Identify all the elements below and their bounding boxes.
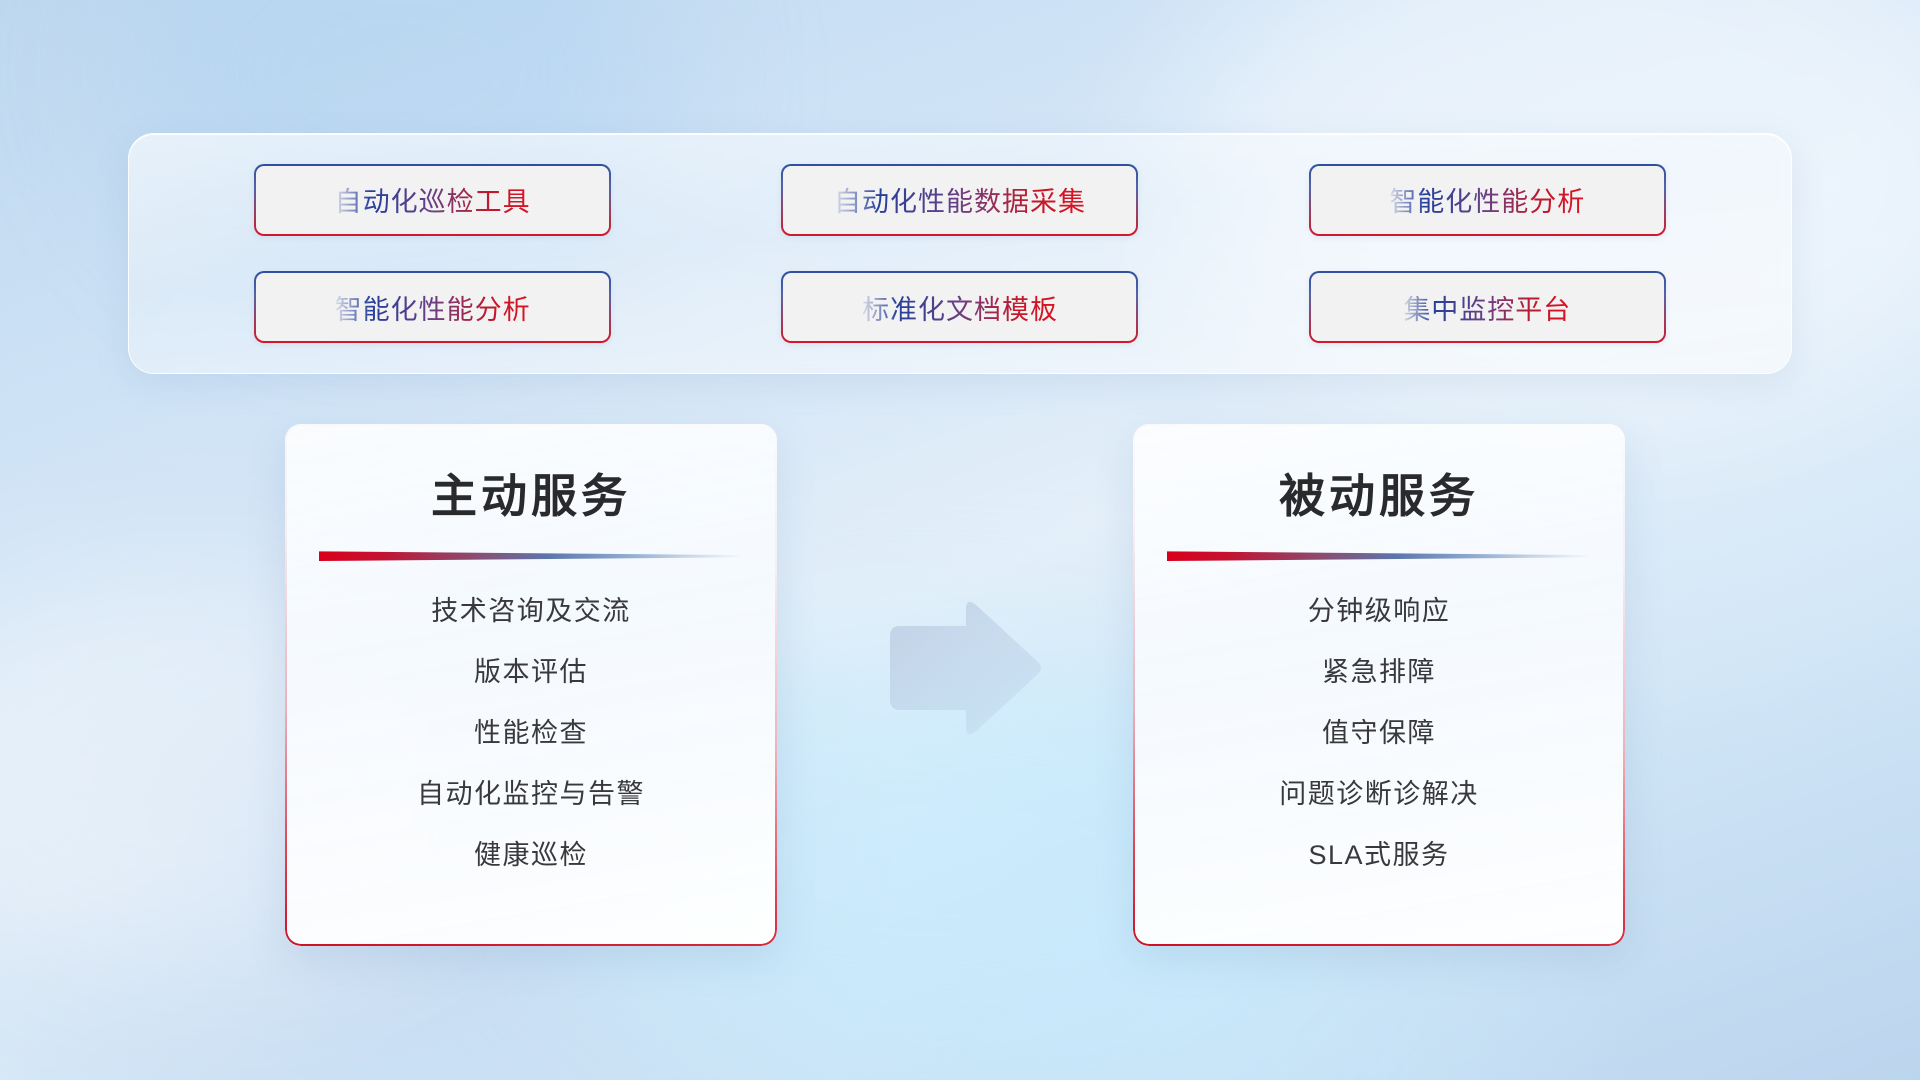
list-item: 版本评估: [474, 650, 588, 689]
list-item: 性能检查: [474, 711, 588, 750]
list-item: 技术咨询及交流: [431, 589, 631, 628]
list-item: 值守保障: [1322, 711, 1436, 750]
list-item: SLA式服务: [1308, 833, 1449, 872]
service-item-list: 分钟级响应 紧急排障 值守保障 问题诊断诊解决 SLA式服务: [1133, 589, 1625, 872]
slide-canvas: 自动化巡检工具 自动化性能数据采集 智能化性能分析 智能化性能分析 标准化文档模…: [0, 0, 1920, 1080]
card-title: 被动服务: [1133, 460, 1625, 526]
capability-tag[interactable]: 智能化性能分析: [1309, 164, 1666, 236]
capability-tag-label: 自动化性能数据采集: [834, 180, 1086, 219]
list-item: 自动化监控与告警: [417, 772, 645, 811]
list-item: 问题诊断诊解决: [1279, 772, 1479, 811]
capability-tag[interactable]: 自动化巡检工具: [254, 164, 611, 236]
capability-tag[interactable]: 智能化性能分析: [254, 271, 611, 343]
capability-tag-label: 智能化性能分析: [1389, 180, 1585, 219]
list-item: 健康巡检: [474, 833, 588, 872]
title-divider: [1167, 550, 1591, 561]
service-item-list: 技术咨询及交流 版本评估 性能检查 自动化监控与告警 健康巡检: [285, 589, 777, 872]
list-item: 分钟级响应: [1308, 589, 1451, 628]
capability-tag-label: 自动化巡检工具: [335, 180, 531, 219]
service-card-reactive: 被动服务 分钟级响应 紧急排障 值守保障 问题诊断诊解决 SLA式服务: [1133, 424, 1625, 946]
capability-tag-label: 智能化性能分析: [335, 288, 531, 327]
capability-tag-label: 标准化文档模板: [862, 288, 1058, 327]
capability-tag[interactable]: 标准化文档模板: [781, 271, 1138, 343]
card-title: 主动服务: [285, 460, 777, 526]
arrow-right-icon: [880, 600, 1042, 750]
capability-tag[interactable]: 自动化性能数据采集: [781, 164, 1138, 236]
capability-tag[interactable]: 集中监控平台: [1309, 271, 1666, 343]
capability-tag-label: 集中监控平台: [1403, 288, 1571, 327]
list-item: 紧急排障: [1322, 650, 1436, 689]
capability-tags-panel: 自动化巡检工具 自动化性能数据采集 智能化性能分析 智能化性能分析 标准化文档模…: [128, 133, 1792, 374]
title-divider: [319, 550, 743, 561]
service-card-proactive: 主动服务 技术咨询及交流 版本评估 性能检查 自动化监控与告警 健康巡检: [285, 424, 777, 946]
